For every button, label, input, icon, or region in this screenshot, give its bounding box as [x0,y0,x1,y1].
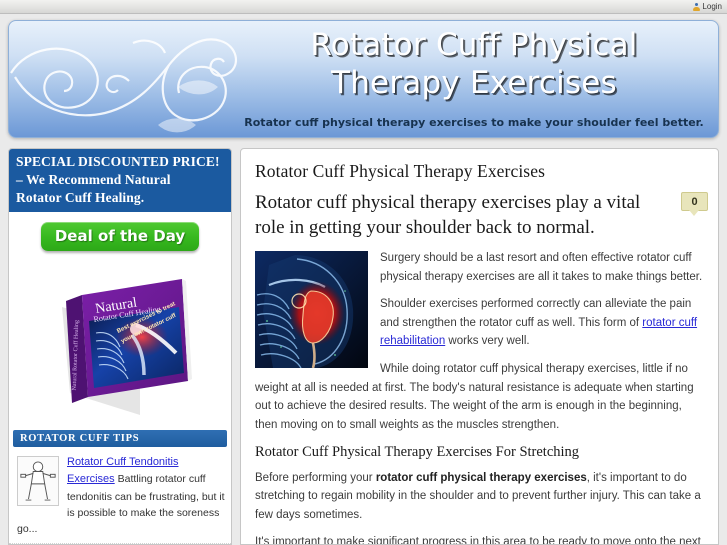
promo-heading: SPECIAL DISCOUNTED PRICE! – We Recommend… [9,149,231,212]
page-root: Rotator Cuff Physical Therapy Exercises … [0,14,727,545]
lede-paragraph: Rotator cuff physical therapy exercises … [255,190,704,241]
promo-heading-line3: Rotator Cuff Healing. [16,189,224,207]
site-header-banner: Rotator Cuff Physical Therapy Exercises … [8,20,719,138]
comment-count-badge[interactable]: 0 [681,192,708,211]
ebook-image-wrapper: Natural Rotator Cuff Healing [9,259,231,430]
sidebar: SPECIAL DISCOUNTED PRICE! – We Recommend… [8,148,232,545]
banner-tagline: Rotator cuff physical therapy exercises … [239,116,709,129]
body-paragraph: It's important to make significant progr… [255,533,704,545]
ebook-cover-image[interactable]: Natural Rotator Cuff Healing [36,269,204,419]
person-icon [693,3,700,11]
promo-heading-line1: SPECIAL DISCOUNTED PRICE! [16,153,224,171]
lede-wrapper: Rotator cuff physical therapy exercises … [255,190,704,241]
promo-heading-line2: – We Recommend Natural [16,171,224,189]
banner-title-line1: Rotator Cuff Physical [239,27,709,65]
body-paragraph: Before performing your rotator cuff phys… [255,469,704,525]
tips-heading: ROTATOR CUFF TIPS [13,430,227,447]
browser-top-bar: Login [0,0,727,14]
keyword-bold: rotator cuff physical therapy exercises [376,472,587,484]
section-heading-stretching: Rotator Cuff Physical Therapy Exercises … [255,444,704,461]
exercise-figure-thumbnail [17,456,59,506]
login-link[interactable]: Login [693,3,722,11]
banner-title: Rotator Cuff Physical Therapy Exercises [239,27,709,103]
deal-of-the-day-button[interactable]: Deal of the Day [41,222,199,251]
banner-title-line2: Therapy Exercises [239,65,709,103]
paragraph-text-pre: Before performing your [255,472,376,484]
shoulder-anatomy-image [255,251,368,368]
paragraph-text-post: works very well. [445,335,529,347]
list-item[interactable]: Rotator Cuff Tendonitis Exercises Battli… [9,447,231,544]
main-content: Rotator Cuff Physical Therapy Exercises … [240,148,719,545]
page-title: Rotator Cuff Physical Therapy Exercises [255,161,704,182]
login-label: Login [702,3,722,11]
body-paragraph: While doing rotator cuff physical therap… [255,360,704,435]
promo-body: Deal of the Day [9,212,231,259]
